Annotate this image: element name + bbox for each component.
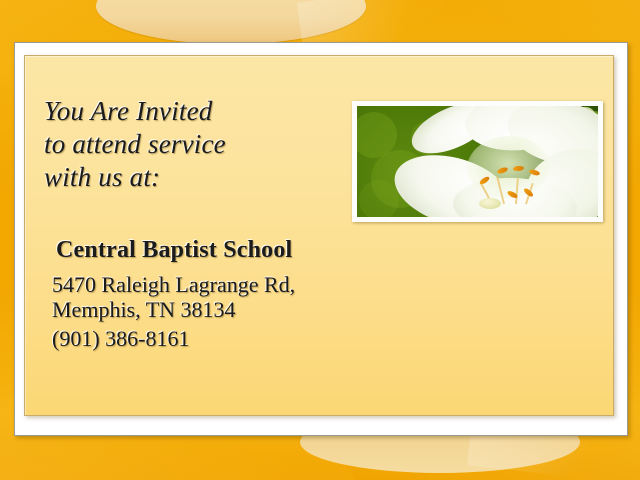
photo-frame: [352, 101, 603, 222]
invitation-headline: You Are Invited to attend service with u…: [44, 95, 226, 194]
lily-stigma: [479, 198, 501, 209]
street-address: 5470 Raleigh Lagrange Rd, Memphis, TN 38…: [52, 272, 295, 322]
easter-lily-photo: [357, 106, 598, 217]
organization-name: Central Baptist School: [56, 237, 292, 264]
bokeh-circle: [359, 180, 399, 217]
invitation-slide: You Are Invited to attend service with u…: [0, 0, 640, 480]
phone-number: (901) 386-8161: [52, 326, 189, 352]
